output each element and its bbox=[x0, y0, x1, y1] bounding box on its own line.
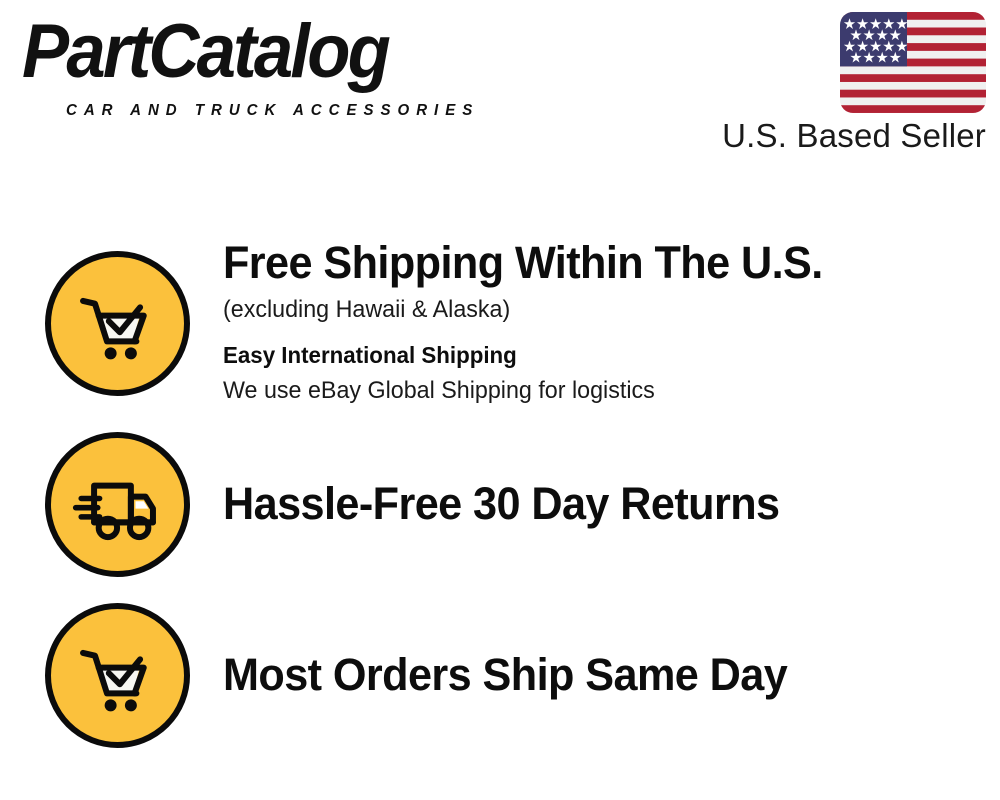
feature-text: Free Shipping Within The U.S. (excluding… bbox=[223, 239, 1000, 407]
feature-note: (excluding Hawaii & Alaska) bbox=[223, 294, 957, 326]
shopping-cart-check-icon bbox=[45, 603, 190, 748]
feature-list: Free Shipping Within The U.S. (excluding… bbox=[0, 228, 1000, 760]
brand-logo: PartCatalog CAR AND TRUCK ACCESSORIES bbox=[22, 18, 492, 118]
feature-title: Most Orders Ship Same Day bbox=[223, 651, 950, 700]
feature-subtitle-strong: Easy International Shipping bbox=[223, 340, 957, 371]
promo-banner: PartCatalog CAR AND TRUCK ACCESSORIES bbox=[0, 0, 1000, 800]
us-flag-icon bbox=[840, 12, 986, 113]
feature-row: Free Shipping Within The U.S. (excluding… bbox=[0, 228, 1000, 418]
feature-subtitle: We use eBay Global Shipping for logistic… bbox=[223, 375, 957, 407]
feature-title: Hassle-Free 30 Day Returns bbox=[223, 480, 950, 529]
feature-text: Hassle-Free 30 Day Returns bbox=[223, 480, 1000, 529]
shopping-cart-check-icon bbox=[45, 251, 190, 396]
delivery-truck-icon bbox=[45, 432, 190, 577]
feature-row: Most Orders Ship Same Day bbox=[0, 590, 1000, 760]
brand-logo-tagline: CAR AND TRUCK ACCESSORIES bbox=[66, 102, 479, 120]
us-based-seller-label: U.S. Based Seller bbox=[722, 118, 986, 154]
brand-logo-wordmark: PartCatalog bbox=[22, 14, 388, 90]
feature-text: Most Orders Ship Same Day bbox=[223, 651, 1000, 700]
feature-title: Free Shipping Within The U.S. bbox=[223, 239, 950, 288]
feature-row: Hassle-Free 30 Day Returns bbox=[0, 418, 1000, 590]
